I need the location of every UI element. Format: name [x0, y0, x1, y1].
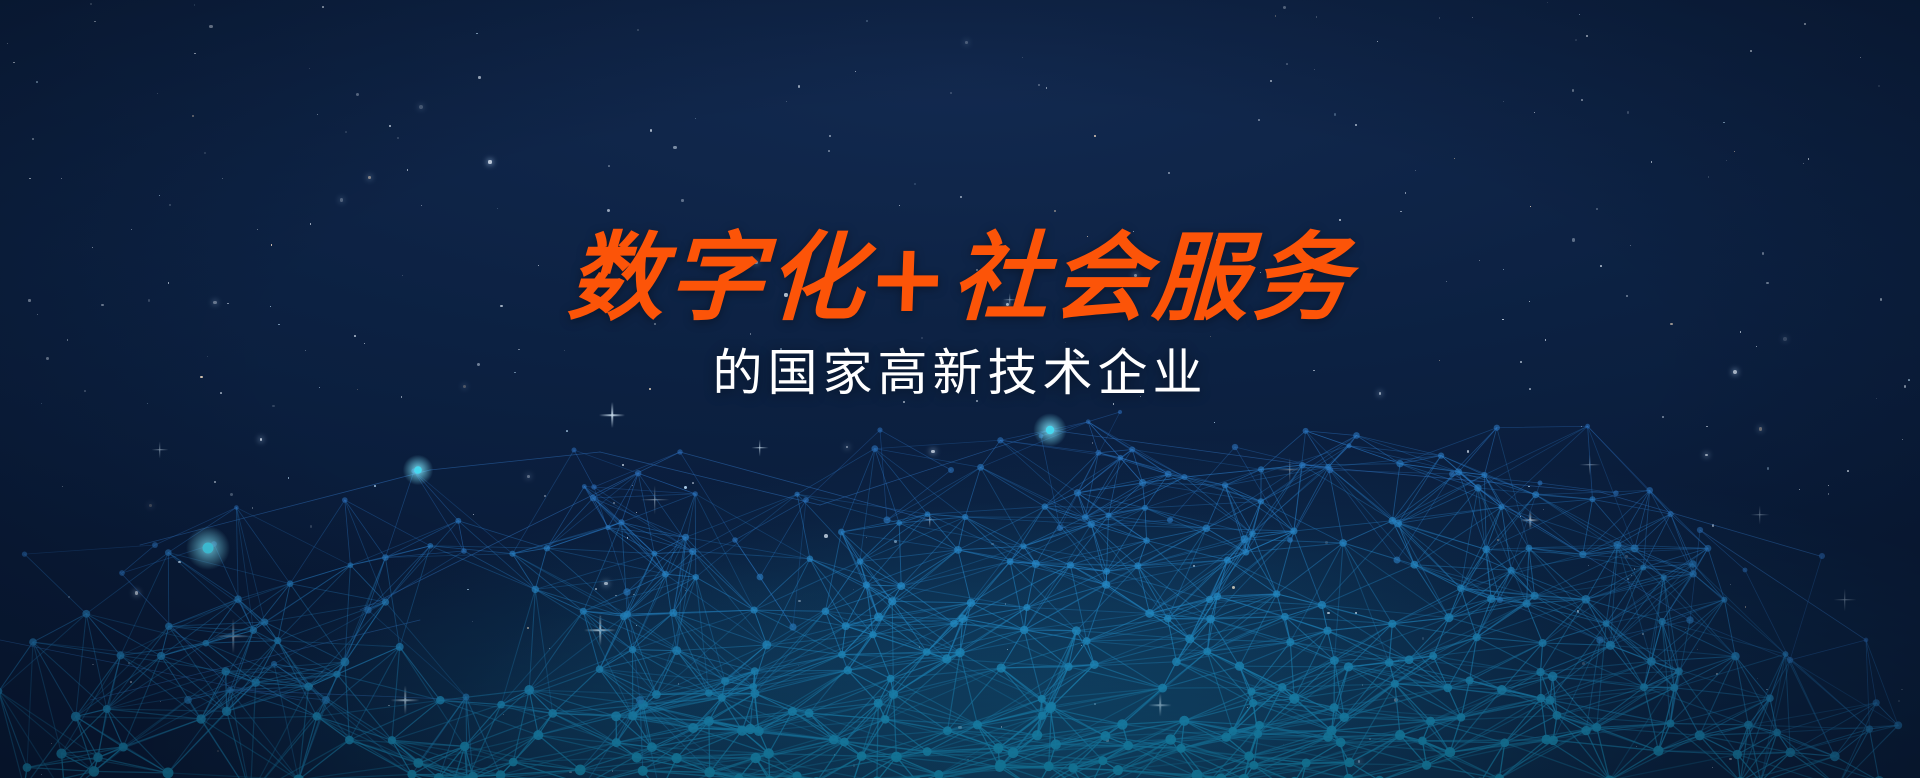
page-title: 数字化+社会服务	[0, 228, 1920, 329]
hero-text-block: 数字化+社会服务 的国家高新技术企业	[0, 228, 1920, 403]
hero-banner: 数字化+社会服务 的国家高新技术企业	[0, 0, 1920, 778]
page-subtitle: 的国家高新技术企业	[0, 343, 1920, 403]
